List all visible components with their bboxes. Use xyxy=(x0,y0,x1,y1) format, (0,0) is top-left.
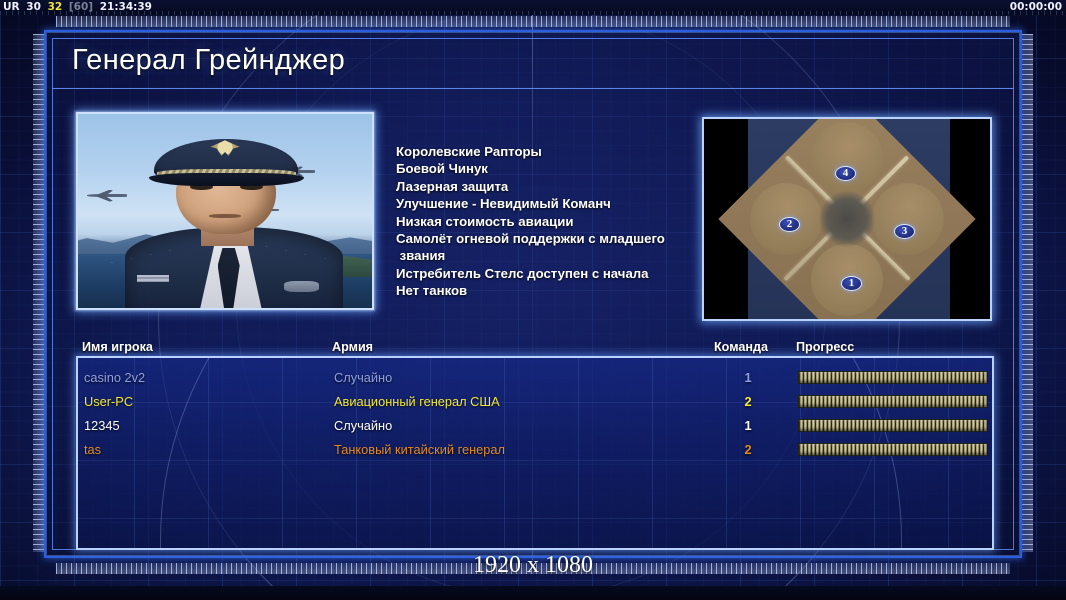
map-start-position-3: 3 xyxy=(894,224,915,239)
portrait-mouth xyxy=(209,214,241,218)
table-row[interactable]: User-PCАвиационный генерал США2 xyxy=(78,390,994,414)
player-name: casino 2v2 xyxy=(84,366,145,390)
table-row[interactable]: 12345Случайно1 xyxy=(78,414,994,438)
map-start-position-2: 2 xyxy=(779,217,800,232)
player-team: 2 xyxy=(738,438,758,462)
player-progress-bar xyxy=(798,395,988,408)
aircraft-icon xyxy=(87,190,127,202)
page-title: Генерал Грейнджер xyxy=(72,44,345,77)
player-army: Случайно xyxy=(334,366,392,390)
ruler-left xyxy=(33,34,44,552)
ruler-right xyxy=(1022,34,1033,552)
player-progress-bar xyxy=(798,419,988,432)
player-army: Танковый китайский генерал xyxy=(334,438,505,462)
column-header-name: Имя игрока xyxy=(82,340,153,354)
top-status-bar: UR 30 32 [60] 21:34:39 00:00:00 xyxy=(0,0,1066,15)
player-name: tas xyxy=(84,438,101,462)
ribbon-bar-icon xyxy=(137,275,169,282)
table-row[interactable]: tasТанковый китайский генерал2 xyxy=(78,438,994,462)
map-start-position-4: 4 xyxy=(835,166,856,181)
player-name: 12345 xyxy=(84,414,120,438)
general-abilities-list: Королевские Рапторы Боевой Чинук Лазерна… xyxy=(396,143,696,300)
map-start-position-1: 1 xyxy=(841,276,862,291)
wings-badge-icon xyxy=(284,281,319,293)
resolution-label: 1920 x 1080 xyxy=(0,552,1066,579)
player-team: 1 xyxy=(738,366,758,390)
column-header-progress: Прогресс xyxy=(796,340,854,354)
player-team: 1 xyxy=(738,414,758,438)
ruler-top xyxy=(56,16,1010,27)
map-preview-image: 4 2 3 1 xyxy=(704,119,990,319)
player-team: 2 xyxy=(738,390,758,414)
status-bar-ticks xyxy=(0,11,1066,15)
column-header-team: Команда xyxy=(714,340,768,354)
portrait-cap-brim xyxy=(149,173,305,186)
game-lobby-screen: UR 30 32 [60] 21:34:39 00:00:00 Генерал … xyxy=(0,0,1066,600)
player-list-panel: casino 2v2Случайно1User-PCАвиационный ге… xyxy=(76,356,994,550)
player-army: Авиационный генерал США xyxy=(334,390,500,414)
portrait-image xyxy=(78,114,372,308)
player-name: User-PC xyxy=(84,390,133,414)
column-header-army: Армия xyxy=(332,340,373,354)
player-progress-bar xyxy=(798,371,988,384)
bottom-band xyxy=(0,586,1066,600)
player-army: Случайно xyxy=(334,414,392,438)
general-portrait xyxy=(76,112,374,310)
map-preview[interactable]: 4 2 3 1 xyxy=(702,117,992,321)
player-progress-bar xyxy=(798,443,988,456)
table-row[interactable]: casino 2v2Случайно1 xyxy=(78,366,994,390)
title-divider xyxy=(52,88,1014,89)
